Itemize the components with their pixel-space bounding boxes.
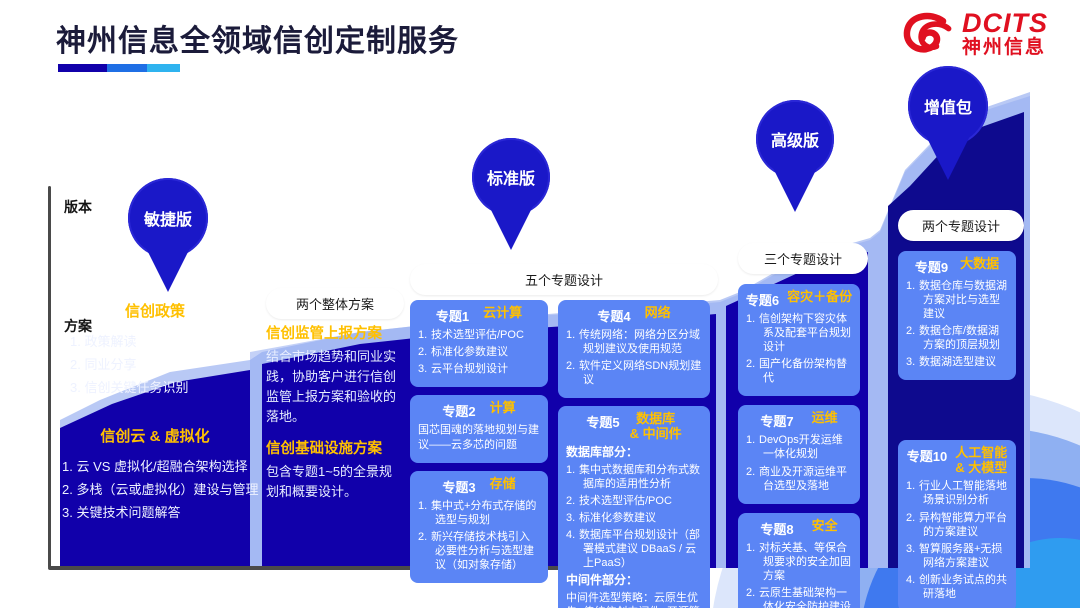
topic-card-4[interactable]: 专题4 网络 1.传统网络：网络分区分域规划建议及使用规范 2.软件定义网络SD… <box>558 300 710 398</box>
agile-cloud-item-2: 2. 多栈（云或虚拟化）建设与管理 <box>62 479 248 502</box>
topic-10-title: 人工智能 & 大模型 <box>955 446 1007 476</box>
column-overall-plans: 两个整体方案 信创监管上报方案 结合市场趋势和同业实践，协助客户进行信创监管上报… <box>266 288 400 503</box>
agile-policy-heading: 信创政策 <box>62 300 248 321</box>
axis-label-version: 版本 <box>64 197 92 217</box>
column-advanced: 三个专题设计 专题6 容灾＋备份 1.信创架构下容灾体系及配套平台规划设计 2.… <box>738 243 860 608</box>
title-underline <box>58 64 180 72</box>
topic-1-number: 专题1 <box>436 306 469 325</box>
agile-cloud-item-1: 1. 云 VS 虚拟化/超融合架构选择 <box>62 456 248 479</box>
topic-1-item-3: 3.云平台规划设计 <box>418 362 540 376</box>
topic-card-3[interactable]: 专题3 存储 1.集中式+分布式存储的选型与规划 2.新兴存储技术栈引入必要性分… <box>410 471 548 583</box>
topic-6-item-1: 1.信创架构下容灾体系及配套平台规划设计 <box>746 312 852 354</box>
topic-5-subhead-mw: 中间件部分： <box>566 573 702 589</box>
topic-1-item-2: 2.标准化参数建议 <box>418 345 540 359</box>
pin-agile[interactable]: 敏捷版 <box>128 178 208 292</box>
slide-canvas: 神州信息全领域信创定制服务 DCITS 神州信息 版本 方案 敏捷版 标准版 高… <box>0 0 1080 608</box>
topic-4-number: 专题4 <box>597 306 630 325</box>
topic-2-number: 专题2 <box>442 401 475 420</box>
pin-agile-label: 敏捷版 <box>128 178 208 258</box>
topic-10-item-1: 1.行业人工智能落地场景识别分析 <box>906 479 1008 507</box>
pill-two-overall-plans: 两个整体方案 <box>266 288 404 319</box>
topic-5-subhead-db: 数据库部分： <box>566 445 702 461</box>
topic-8-item-2: 2.云原生基础架构一体化安全防护建设方案 <box>746 586 852 608</box>
pin-standard-label: 标准版 <box>472 138 550 216</box>
agile-cloud-heading: 信创云 & 虚拟化 <box>62 425 248 446</box>
topic-5-item-2: 2.技术选型评估/POC <box>566 494 702 508</box>
topic-5-item-1: 1.集中式数据库和分布式数据库的适用性分析 <box>566 463 702 491</box>
topic-9-item-1: 1.数据仓库与数据湖方案对比与选型建议 <box>906 279 1008 321</box>
topic-card-6[interactable]: 专题6 容灾＋备份 1.信创架构下容灾体系及配套平台规划设计 2.国产化备份架构… <box>738 284 860 396</box>
topic-3-item-1: 1.集中式+分布式存储的选型与规划 <box>418 499 540 527</box>
pin-standard[interactable]: 标准版 <box>472 138 550 250</box>
topic-6-item-2: 2.国产化备份架构替代 <box>746 357 852 385</box>
pill-five-topics: 五个专题设计 <box>410 264 718 295</box>
topic-3-title: 存储 <box>490 477 516 492</box>
overall-plan-1-heading: 信创监管上报方案 <box>266 325 400 344</box>
standard-left-stack: 专题1 云计算 1.技术选型评估/POC 2.标准化参数建议 3.云平台规划设计… <box>410 300 548 583</box>
column-standard: 五个专题设计 专题1 云计算 1.技术选型评估/POC 2.标准化参数建议 3.… <box>410 264 710 295</box>
agile-cloud-item-3: 3. 关键技术问题解答 <box>62 502 248 525</box>
topic-5-title: 数据库 & 中间件 <box>630 412 682 442</box>
agile-section-cloud: 信创云 & 虚拟化 1. 云 VS 虚拟化/超融合架构选择 2. 多栈（云或虚拟… <box>62 425 248 524</box>
overall-plan-1-body: 结合市场趋势和同业实践，协助客户进行信创监管上报方案和验收的落地。 <box>266 347 400 428</box>
column-agile: 信创政策 1. 政策解读 2. 同业分享 3. 信创关键任务识别 信创云 & 虚… <box>62 300 248 525</box>
topic-9-title: 大数据 <box>960 257 999 272</box>
topic-6-title: 容灾＋备份 <box>787 290 852 305</box>
topic-card-9[interactable]: 专题9 大数据 1.数据仓库与数据湖方案对比与选型建议 2.数据仓库/数据湖方案… <box>898 251 1016 380</box>
topic-1-title: 云计算 <box>483 306 522 321</box>
column-valuepack: 两个专题设计 专题9 大数据 1.数据仓库与数据湖方案对比与选型建议 2.数据仓… <box>898 210 1016 608</box>
topic-10-item-4: 4.创新业务试点的共研落地 <box>906 573 1008 601</box>
pill-three-topics: 三个专题设计 <box>738 243 868 274</box>
pill-two-topics: 两个专题设计 <box>898 210 1024 241</box>
topic-10-number: 专题10 <box>907 446 947 465</box>
topic-8-title: 安全 <box>812 519 838 534</box>
agile-policy-item-3: 3. 信创关键任务识别 <box>62 377 248 400</box>
topic-7-number: 专题7 <box>760 411 793 430</box>
topic-5-item-3: 3.标准化参数建议 <box>566 511 702 525</box>
version-axis <box>48 186 51 568</box>
agile-policy-item-2: 2. 同业分享 <box>62 354 248 377</box>
topic-4-item-2: 2.软件定义网络SDN规划建议 <box>566 359 702 387</box>
topic-8-item-1: 1.对标关基、等保合规要求的安全加固方案 <box>746 541 852 583</box>
topic-6-number: 专题6 <box>746 290 779 309</box>
overall-plan-2-heading: 信创基础设施方案 <box>266 440 400 459</box>
page-title: 神州信息全领域信创定制服务 <box>56 16 459 60</box>
topic-10-item-3: 3.智算服务器+无损网络方案建议 <box>906 542 1008 570</box>
company-logo: DCITS 神州信息 <box>900 8 1060 70</box>
topic-5-tail: 中间件选型策略：云原生优先+传统信创中间件+开源管理 <box>566 591 702 608</box>
topic-card-7[interactable]: 专题7 运维 1.DevOps开发运维一体化规划 2.商业及开源运维平台选型及落… <box>738 405 860 503</box>
topic-5-number: 专题5 <box>586 412 619 431</box>
topic-2-body: 国芯国魂的落地规划与建议——云多芯的问题 <box>418 423 540 452</box>
topic-card-5[interactable]: 专题5 数据库 & 中间件 数据库部分： 1.集中式数据库和分布式数据库的适用性… <box>558 406 710 608</box>
topic-2-title: 计算 <box>490 401 516 416</box>
topic-10-item-2: 2.异构智能算力平台的方案建议 <box>906 511 1008 539</box>
topic-7-item-2: 2.商业及开源运维平台选型及落地 <box>746 465 852 493</box>
topic-7-title: 运维 <box>812 411 838 426</box>
pin-valuepack[interactable]: 增值包 <box>908 66 988 180</box>
pin-advanced-label: 高级版 <box>756 100 834 178</box>
standard-right-stack: 专题4 网络 1.传统网络：网络分区分域规划建议及使用规范 2.软件定义网络SD… <box>558 300 710 608</box>
topic-9-item-3: 3.数据湖选型建议 <box>906 355 1008 369</box>
topic-9-item-2: 2.数据仓库/数据湖方案的顶层规划 <box>906 324 1008 352</box>
topic-7-item-1: 1.DevOps开发运维一体化规划 <box>746 433 852 461</box>
topic-4-title: 网络 <box>645 306 671 321</box>
topic-5-item-4: 4.数据库平台规划设计（部署模式建议 DBaaS / 云上PaaS） <box>566 528 702 570</box>
topic-8-number: 专题8 <box>760 519 793 538</box>
pin-valuepack-label: 增值包 <box>908 66 988 146</box>
logo-brand: DCITS <box>962 10 1048 37</box>
topic-1-item-1: 1.技术选型评估/POC <box>418 328 540 342</box>
logo-brand-cn: 神州信息 <box>962 38 1046 57</box>
topic-4-item-1: 1.传统网络：网络分区分域规划建议及使用规范 <box>566 328 702 356</box>
topic-card-8[interactable]: 专题8 安全 1.对标关基、等保合规要求的安全加固方案 2.云原生基础架构一体化… <box>738 513 860 608</box>
topic-3-item-2: 2.新兴存储技术栈引入必要性分析与选型建议（如对象存储） <box>418 530 540 572</box>
topic-card-10[interactable]: 专题10 人工智能 & 大模型 1.行业人工智能落地场景识别分析 2.异构智能算… <box>898 440 1016 608</box>
agile-policy-item-1: 1. 政策解读 <box>62 331 248 354</box>
topic-9-number: 专题9 <box>915 257 948 276</box>
overall-plan-2-body: 包含专题1~5的全景规划和概要设计。 <box>266 462 400 502</box>
pin-advanced[interactable]: 高级版 <box>756 100 834 212</box>
topic-card-2[interactable]: 专题2 计算 国芯国魂的落地规划与建议——云多芯的问题 <box>410 395 548 463</box>
topic-card-1[interactable]: 专题1 云计算 1.技术选型评估/POC 2.标准化参数建议 3.云平台规划设计 <box>410 300 548 387</box>
dcits-swirl-icon <box>902 10 958 64</box>
topic-3-number: 专题3 <box>442 477 475 496</box>
agile-section-policy: 信创政策 1. 政策解读 2. 同业分享 3. 信创关键任务识别 <box>62 300 248 399</box>
